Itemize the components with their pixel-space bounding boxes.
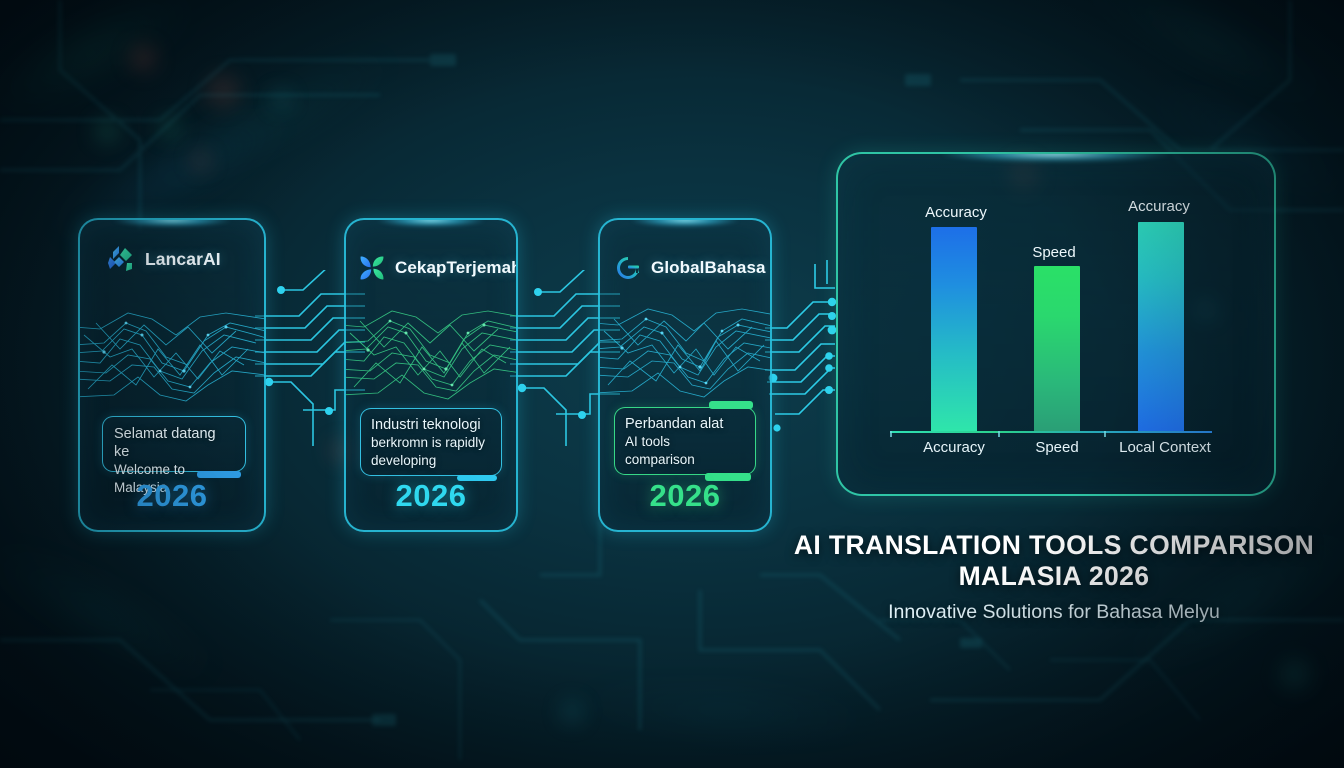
vignette-overlay xyxy=(0,0,1344,768)
poster-canvas: LancarAI xyxy=(0,0,1344,768)
